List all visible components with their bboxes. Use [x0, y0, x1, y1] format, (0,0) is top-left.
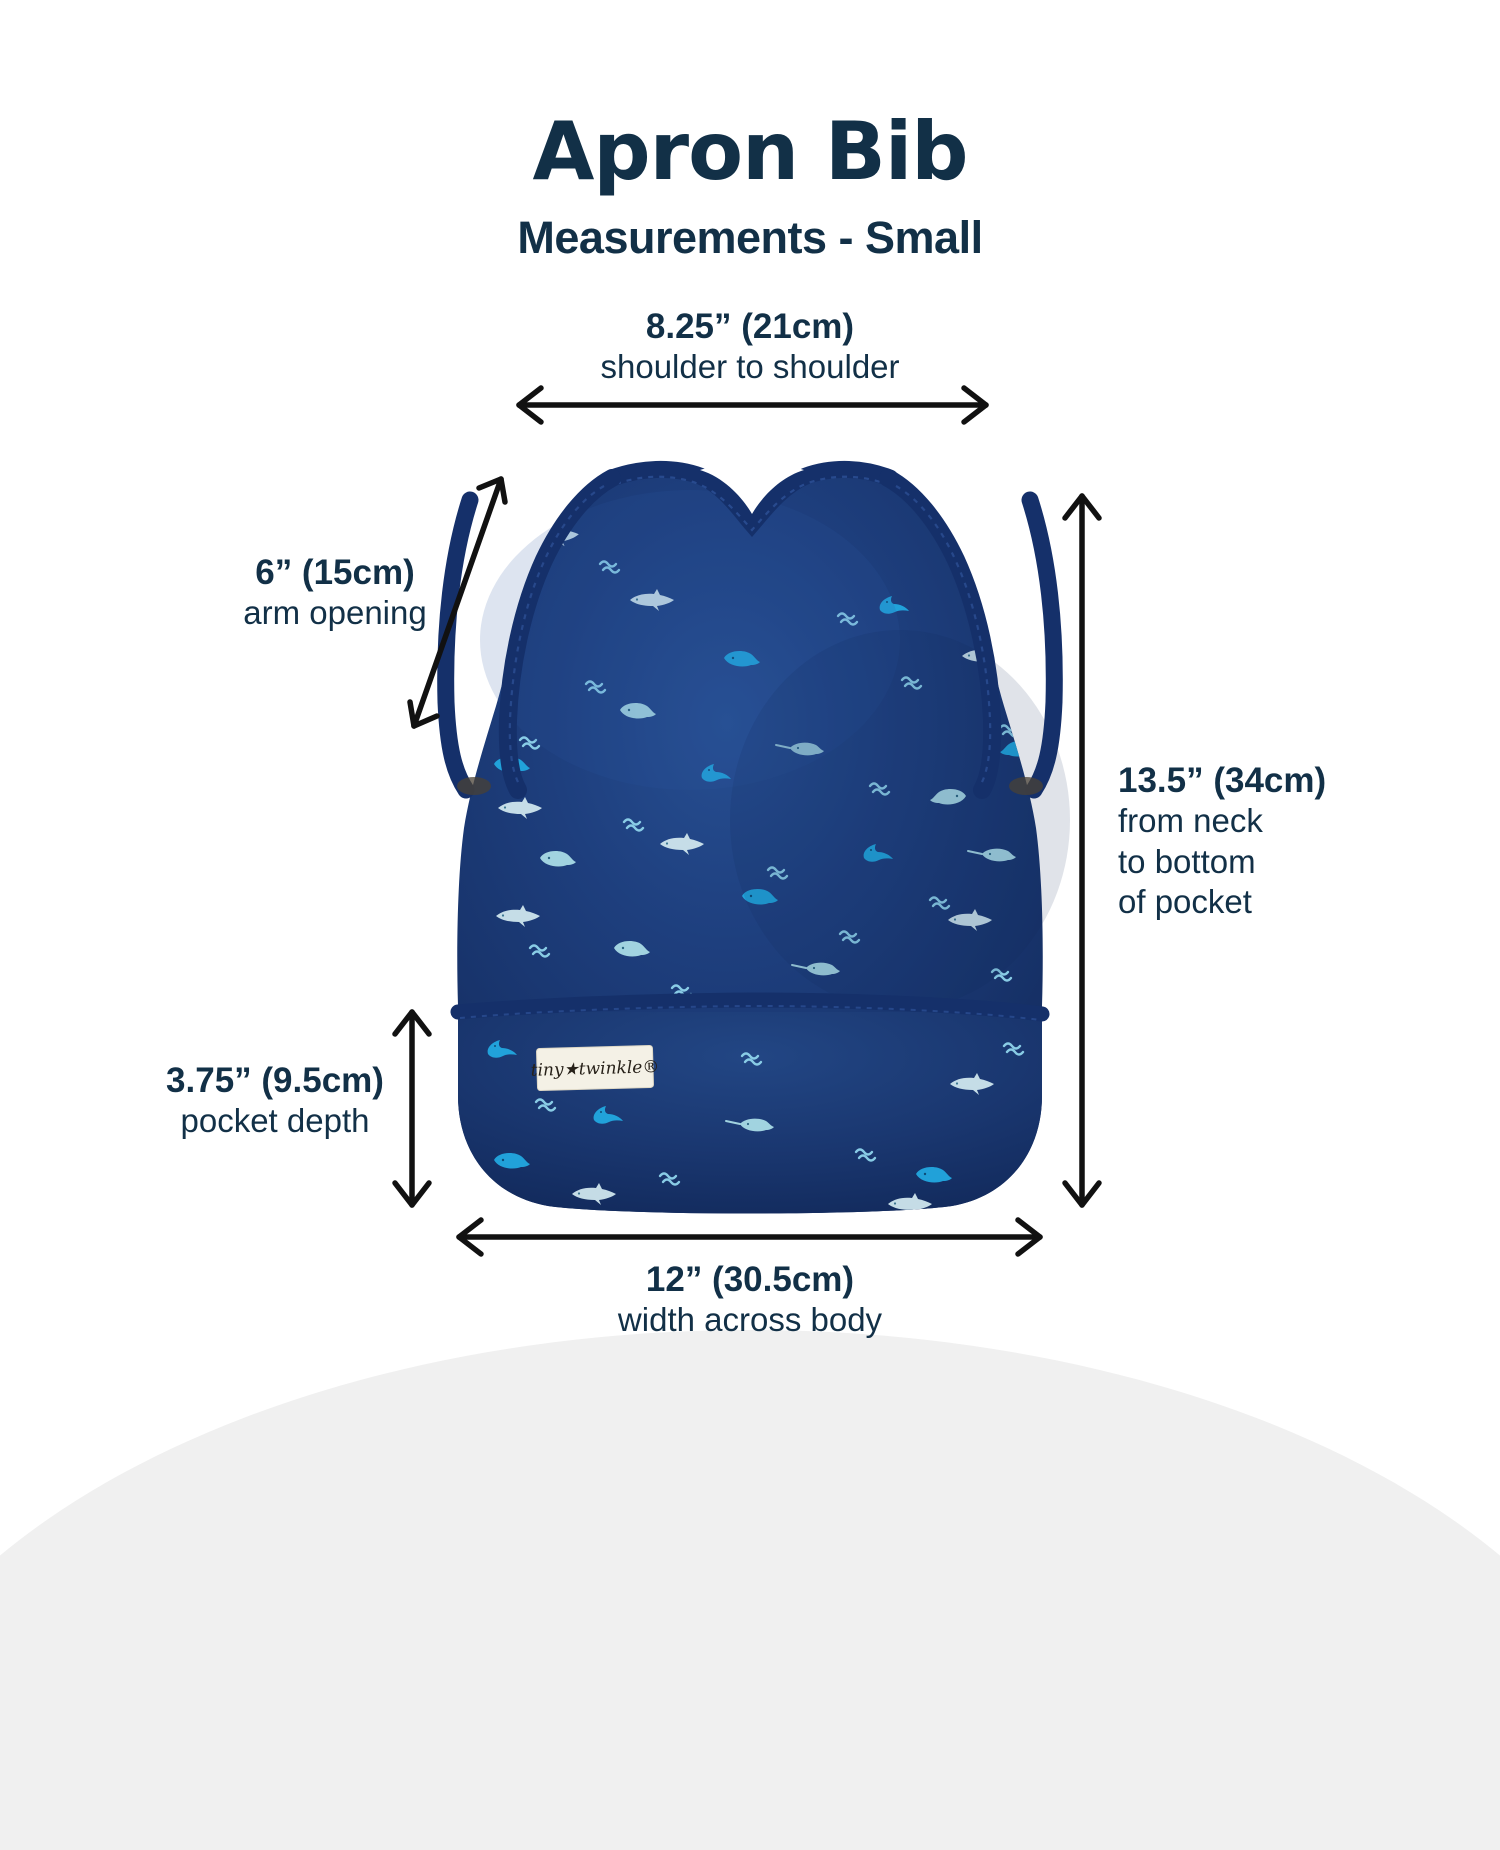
- arrow-neck-to-pocket: [1065, 496, 1099, 1205]
- measurement-neck-to-bottom-of-pocket: 13.5” (34cm) from neck to bottom of pock…: [1118, 760, 1458, 922]
- measurement-description-line-2: to bottom: [1118, 842, 1458, 882]
- measurement-pocket-depth: 3.75” (9.5cm) pocket depth: [110, 1060, 440, 1142]
- measurement-width-across-body: 12” (30.5cm) width across body: [0, 1259, 1500, 1341]
- measurement-description-line-1: from neck: [1118, 801, 1458, 841]
- measurement-description: shoulder to shoulder: [0, 347, 1500, 387]
- measurement-value: 12” (30.5cm): [0, 1259, 1500, 1300]
- measurement-description: pocket depth: [110, 1101, 440, 1141]
- measurement-description: width across body: [0, 1300, 1500, 1340]
- measurement-description: arm opening: [140, 593, 530, 633]
- measurement-value: 3.75” (9.5cm): [110, 1060, 440, 1101]
- arrow-width-across-body: [459, 1220, 1040, 1254]
- measurement-value: 6” (15cm): [140, 552, 530, 593]
- measurement-arm-opening: 6” (15cm) arm opening: [140, 552, 530, 634]
- page-title: Apron Bib: [0, 112, 1500, 192]
- measurement-diagram: Apron Bib Measurements - Small: [0, 0, 1500, 1500]
- measurement-value: 13.5” (34cm): [1118, 760, 1458, 801]
- measurement-shoulder-to-shoulder: 8.25” (21cm) shoulder to shoulder: [0, 306, 1500, 388]
- arrow-shoulder-to-shoulder: [519, 388, 986, 422]
- measurement-value: 8.25” (21cm): [0, 306, 1500, 347]
- measurement-description-line-3: of pocket: [1118, 882, 1458, 922]
- page-subtitle: Measurements - Small: [0, 215, 1500, 260]
